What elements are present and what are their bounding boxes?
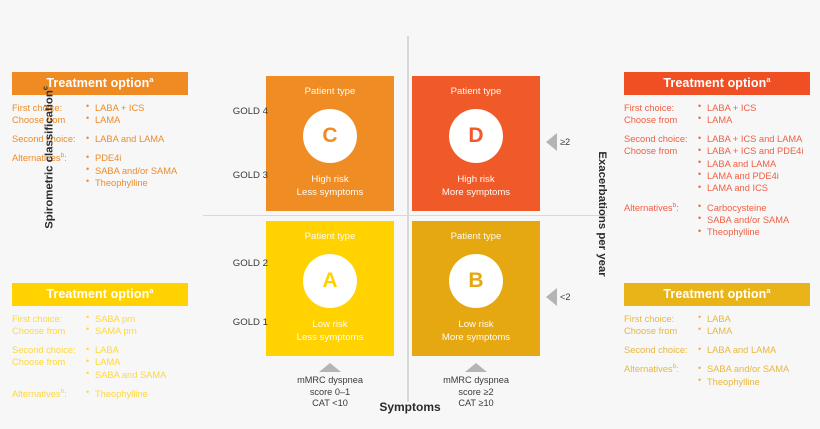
treatment-group-label-line1: First choice: [624,313,698,325]
quadrant-b-letter-badge: B [449,254,503,308]
treatment-panel-a-body: First choice: Choose from SABA prn SAMA … [12,306,188,401]
symptoms-left-line2: score 0–1 [265,387,395,399]
gold-copd-classification-diagram: Treatment optiona First choice: Choose f… [0,0,820,429]
treatment-item: LABA [86,344,188,356]
quadrant-d-risk: High risk [442,174,510,186]
treatment-group: First choice: Choose from SABA prn SAMA … [12,313,188,338]
treatment-item: LABA and LAMA [698,344,810,356]
treatment-group: Alternativesb: Theophylline [12,388,188,400]
y-axis-label-sup: c [41,86,50,90]
exacerbations-axis-label: Exacerbations per year [596,124,608,304]
treatment-group-items: LABA LAMA [698,313,810,338]
quadrant-c-letter: C [322,124,337,148]
treatment-group-items: LABA + ICS LAMA [698,102,810,127]
treatment-panel-d-header-text: Treatment option [663,76,766,90]
gold-tick-1: GOLD 1 [218,317,268,328]
treatment-group: Second choice: LABA and LAMA [12,133,188,145]
treatment-group-items: Theophylline [86,388,188,400]
arrow-up-icon [465,363,487,372]
treatment-item: LABA + ICS and PDE4i [698,145,810,157]
treatment-group: Second choice: LABA and LAMA [624,344,810,356]
treatment-item: LAMA [698,114,810,126]
treatment-panel-c: Treatment optiona First choice: Choose f… [12,72,188,196]
alternatives-colon: : [676,203,679,213]
treatment-item: Carbocysteine [698,202,810,214]
quadrant-b-risk: Low risk [442,319,510,331]
treatment-group: Second choice: Choose from LABA + ICS an… [624,133,810,194]
treatment-item: LAMA [698,325,810,337]
treatment-group-label: First choice: Choose from [624,102,698,127]
treatment-group-label-line1: Alternativesb: [624,202,698,214]
alternatives-label: Alternatives [12,389,61,399]
treatment-group-label: First choice: Choose from [624,313,698,338]
treatment-group-items: SABA prn SAMA prn [86,313,188,338]
quadrant-grid: Patient type C High risk Less symptoms P… [266,76,540,362]
treatment-group-label: Second choice: [624,344,698,356]
symptoms-right-line1: mMRC dyspnea [411,375,541,387]
treatment-item: LABA [698,313,810,325]
quadrant-c-letter-badge: C [303,109,357,163]
treatment-panel-a-header-sup: a [149,286,153,295]
treatment-panel-b-body: First choice: Choose from LABA LAMA Seco… [624,306,810,388]
quadrant-a[interactable]: Patient type A Low risk Less symptoms [266,221,394,356]
treatment-panel-d-header: Treatment optiona [624,72,810,95]
treatment-item: Theophylline [86,388,188,400]
treatment-panel-b: Treatment optiona First choice: Choose f… [624,283,810,395]
treatment-item: LAMA and PDE4i [698,170,810,182]
treatment-group-label: Second choice: Choose from [624,133,698,194]
treatment-group-label: First choice: Choose from [12,313,86,338]
symptoms-left-line3: CAT <10 [265,398,395,410]
quadrant-b-description: Low risk More symptoms [442,319,510,344]
treatment-panel-b-header-sup: a [766,286,770,295]
treatment-group-label: Alternativesb: [624,202,698,239]
gold-tick-2: GOLD 2 [218,258,268,269]
treatment-group-label-line2: Choose from [624,145,698,157]
treatment-group-label-line1: Second choice: [12,344,86,356]
treatment-group-label: Alternativesb: [12,388,86,400]
treatment-group-label: Alternativesb: [624,363,698,388]
quadrant-d[interactable]: Patient type D High risk More symptoms [412,76,540,211]
treatment-panel-d-body: First choice: Choose from LABA + ICS LAM… [624,95,810,239]
treatment-item: LAMA [86,114,188,126]
quadrant-a-symptoms: Less symptoms [297,332,364,344]
treatment-item: Theophylline [86,177,188,189]
symptoms-left-line1: mMRC dyspnea [265,375,395,387]
treatment-item: PDE4i [86,152,188,164]
quadrant-a-risk: Low risk [297,319,364,331]
treatment-panel-a-header-text: Treatment option [46,287,149,301]
quadrant-d-symptoms: More symptoms [442,187,510,199]
treatment-item: LABA + ICS [86,102,188,114]
treatment-item: LABA and LAMA [86,133,188,145]
treatment-group: Second choice: Choose from LABA LAMA SAB… [12,344,188,381]
treatment-item: LABA + ICS and LAMA [698,133,810,145]
quadrant-d-patient-type-label: Patient type [451,86,502,98]
quadrant-c-risk: High risk [297,174,364,186]
y-axis-label: Spirometric classificationc [41,47,56,267]
treatment-panel-b-header: Treatment optiona [624,283,810,306]
treatment-group: Alternativesb: PDE4i SABA and/or SAMA Th… [12,152,188,189]
arrow-up-icon [319,363,341,372]
symptoms-right-line3: CAT ≥10 [411,398,541,410]
treatment-group-items: LABA and LAMA [698,344,810,356]
treatment-panel-d: Treatment optiona First choice: Choose f… [624,72,810,245]
treatment-panel-b-header-text: Treatment option [663,287,766,301]
treatment-group-items: LABA + ICS LAMA [86,102,188,127]
exacerbations-low-callout: <2 [546,288,570,306]
treatment-group-label-line1: Alternativesb: [624,363,698,375]
treatment-item: SABA prn [86,313,188,325]
treatment-group-label-line1: First choice: [12,313,86,325]
gold-tick-3: GOLD 3 [218,170,268,181]
treatment-group-label-line2: Choose from [624,325,698,337]
treatment-group-items: Carbocysteine SABA and/or SAMA Theophyll… [698,202,810,239]
treatment-panel-d-header-sup: a [766,75,770,84]
arrow-left-icon [546,288,557,306]
treatment-item: SAMA prn [86,325,188,337]
treatment-group: First choice: Choose from LABA + ICS LAM… [624,102,810,127]
treatment-group-items: LABA LAMA SABA and SAMA [86,344,188,381]
treatment-group-items: PDE4i SABA and/or SAMA Theophylline [86,152,188,189]
quadrant-d-letter: D [468,124,483,148]
treatment-group: Alternativesb: SABA and/or SAMA Theophyl… [624,363,810,388]
quadrant-b[interactable]: Patient type B Low risk More symptoms [412,221,540,356]
treatment-group-label-line1: Alternativesb: [12,388,86,400]
treatment-item: SABA and/or SAMA [698,363,810,375]
symptoms-right-line2: score ≥2 [411,387,541,399]
treatment-group-label-line2: Choose from [12,356,86,368]
treatment-group-label-line1: Second choice: [624,133,698,145]
quadrant-b-patient-type-label: Patient type [451,231,502,243]
treatment-item: SABA and SAMA [86,369,188,381]
quadrant-b-symptoms: More symptoms [442,332,510,344]
y-axis-label-text: Spirometric classification [43,90,55,229]
alternatives-colon: : [64,389,67,399]
exacerbations-low-value: <2 [560,292,570,302]
quadrant-c-patient-type-label: Patient type [305,86,356,98]
alternatives-label: Alternatives [624,365,673,375]
treatment-group-items: LABA and LAMA [86,133,188,145]
quadrant-a-description: Low risk Less symptoms [297,319,364,344]
gold-tick-4: GOLD 4 [218,106,268,117]
treatment-group-items: SABA and/or SAMA Theophylline [698,363,810,388]
treatment-group-items: LABA + ICS and LAMA LABA + ICS and PDE4i… [698,133,810,194]
treatment-group: First choice: Choose from LABA + ICS LAM… [12,102,188,127]
treatment-item: SABA and/or SAMA [86,165,188,177]
treatment-group-label: Second choice: Choose from [12,344,86,381]
symptoms-left-callout: mMRC dyspnea score 0–1 CAT <10 [265,363,395,410]
treatment-panel-a: Treatment optiona First choice: Choose f… [12,283,188,407]
treatment-group-label-line1: First choice: [624,102,698,114]
treatment-panel-a-header: Treatment optiona [12,283,188,306]
quadrant-d-description: High risk More symptoms [442,174,510,199]
quadrant-d-letter-badge: D [449,109,503,163]
quadrant-c-symptoms: Less symptoms [297,187,364,199]
treatment-panel-c-header-sup: a [149,75,153,84]
exacerbations-high-value: ≥2 [560,137,570,147]
treatment-item: SABA and/or SAMA [698,214,810,226]
quadrant-a-letter: A [322,269,337,293]
quadrant-c-description: High risk Less symptoms [297,174,364,199]
treatment-item: Theophylline [698,226,810,238]
treatment-group-label-line1: Second choice: [624,344,698,356]
quadrant-b-letter: B [468,269,483,293]
treatment-panel-c-body: First choice: Choose from LABA + ICS LAM… [12,95,188,190]
treatment-group-label-line2: Choose from [624,114,698,126]
quadrant-a-patient-type-label: Patient type [305,231,356,243]
treatment-group: Alternativesb: Carbocysteine SABA and/or… [624,202,810,239]
treatment-group-label-line2: Choose from [12,325,86,337]
treatment-panel-c-header: Treatment optiona [12,72,188,95]
arrow-left-icon [546,133,557,151]
symptoms-right-callout: mMRC dyspnea score ≥2 CAT ≥10 [411,363,541,410]
quadrant-c[interactable]: Patient type C High risk Less symptoms [266,76,394,211]
treatment-panel-c-header-text: Treatment option [46,76,149,90]
treatment-item: LAMA and ICS [698,182,810,194]
alternatives-colon: : [64,154,67,164]
exacerbations-high-callout: ≥2 [546,133,570,151]
quadrant-a-letter-badge: A [303,254,357,308]
treatment-item: LAMA [86,356,188,368]
alternatives-colon: : [676,365,679,375]
treatment-item: Theophylline [698,376,810,388]
alternatives-label: Alternatives [624,203,673,213]
treatment-item: LABA + ICS [698,102,810,114]
treatment-group: First choice: Choose from LABA LAMA [624,313,810,338]
treatment-item: LABA and LAMA [698,158,810,170]
